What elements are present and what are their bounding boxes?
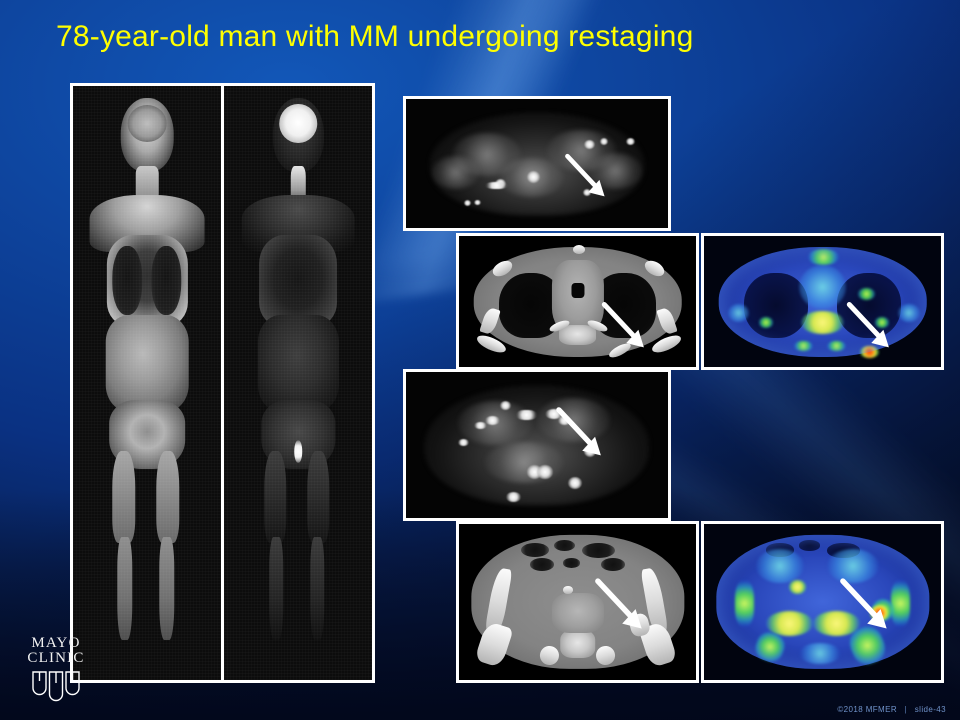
presentation-slide: 78-year-old man with MM undergoing resta… xyxy=(0,0,960,720)
arrow-annotation-ct-thorax xyxy=(592,299,658,354)
whole-body-mri-panel xyxy=(70,83,375,683)
axial-pet-ct-thorax-image xyxy=(704,236,941,367)
axial-ct-pelvis-image xyxy=(459,524,696,680)
axial-dwi-pelvis-image xyxy=(406,372,668,518)
arrow-annotation-pet-thorax xyxy=(837,299,903,354)
coronal-t1-whole-body-image xyxy=(73,86,224,680)
arrow-annotation-ct-pelvis xyxy=(589,575,653,636)
coronal-dwi-whole-body-image xyxy=(224,86,372,680)
dwi-noise-texture xyxy=(224,86,372,680)
mayo-three-shields-icon xyxy=(14,669,98,708)
mayo-clinic-logo: MAYO CLINIC xyxy=(14,636,98,708)
slide-footer: ©2018 MFMER | slide-43 xyxy=(837,705,946,714)
axial-dwi-thorax-image xyxy=(406,99,668,228)
footer-copyright: ©2018 MFMER xyxy=(837,705,897,714)
arrow-annotation-pet-pelvis xyxy=(834,575,898,636)
axial-pet-ct-pelvis-image xyxy=(704,524,941,680)
axial-ct-pelvis-panel xyxy=(456,521,699,683)
logo-text-clinic: CLINIC xyxy=(14,651,98,666)
slide-title: 78-year-old man with MM undergoing resta… xyxy=(56,20,693,54)
arrow-annotation-dwi-thorax xyxy=(553,151,621,203)
axial-dwi-pelvis-panel xyxy=(403,369,671,521)
mri-noise-texture xyxy=(73,86,221,680)
axial-dwi-thorax-panel xyxy=(403,96,671,231)
axial-ct-thorax-panel xyxy=(456,233,699,370)
axial-pet-ct-pelvis-panel xyxy=(701,521,944,683)
arrow-annotation-dwi-pelvis xyxy=(547,404,615,462)
axial-pet-ct-thorax-panel xyxy=(701,233,944,370)
logo-text-mayo: MAYO xyxy=(14,636,98,651)
footer-separator: | xyxy=(905,705,907,714)
axial-ct-thorax-image xyxy=(459,236,696,367)
footer-slide-number: slide-43 xyxy=(915,705,946,714)
